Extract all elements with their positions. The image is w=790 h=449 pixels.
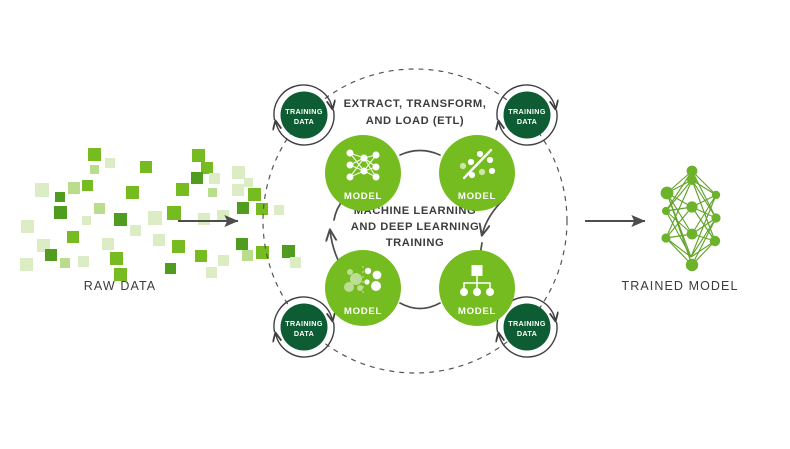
raw-data-square [78,256,89,267]
raw-data-square [82,216,91,225]
connector-top [400,151,440,156]
diagram-canvas: EXTRACT, TRANSFORM, AND LOAD (ETL) MACHI… [0,0,790,444]
model-label: MODEL [458,306,496,317]
connector-bottom [400,303,440,309]
training-data-node-top-left[interactable]: TRAININGDATA [274,85,334,145]
raw-data-square [35,183,49,197]
raw-data-scatter [20,148,301,281]
connector-left-up [330,230,339,262]
raw-data-square [54,206,67,219]
raw-data-square [290,257,301,268]
raw-data-square [130,225,141,236]
raw-data-square [167,206,181,220]
training-data-label-line-2: DATA [517,329,537,338]
raw-data-square [60,258,70,268]
raw-data-square [110,252,123,265]
workflow-diagram-svg: EXTRACT, TRANSFORM, AND LOAD (ETL) MACHI… [0,0,790,444]
raw-data-square [218,255,229,266]
raw-data-square [242,250,253,261]
raw-data-square [126,186,139,199]
raw-data-square [55,192,65,202]
raw-data-square [88,148,101,161]
training-data-label-line-2: DATA [517,117,537,126]
trained-model-caption: TRAINED MODEL [570,279,790,293]
raw-data-square [248,188,261,201]
ml-training-label: MACHINE LEARNING AND DEEP LEARNING TRAIN… [351,205,480,249]
raw-data-square [274,205,284,215]
training-data-label-line-1: TRAINING [285,107,323,116]
raw-data-square [140,161,152,173]
raw-data-square [148,211,162,225]
model-node-model-neural-net[interactable]: MODEL [325,135,401,211]
training-label-line-3: TRAINING [386,237,444,249]
training-data-label-line-2: DATA [294,117,314,126]
raw-data-square [198,213,210,225]
model-node-model-decision-tree[interactable]: MODEL [439,250,515,326]
raw-data-square [244,178,253,187]
raw-data-square [209,173,220,184]
raw-data-square [256,203,268,215]
training-data-label-line-1: TRAINING [508,319,546,328]
raw-data-square [237,202,249,214]
training-data-node-top-right[interactable]: TRAININGDATA [497,85,557,145]
etl-label: EXTRACT, TRANSFORM, AND LOAD (ETL) [344,98,487,127]
training-label-line-2: AND DEEP LEARNING [351,221,480,233]
etl-label-line-2: AND LOAD (ETL) [366,115,464,127]
model-label: MODEL [344,306,382,317]
model-node-model-classifier[interactable]: MODEL [439,135,515,211]
raw-data-square [21,220,34,233]
training-data-label-line-1: TRAINING [285,319,323,328]
raw-data-square [68,182,80,194]
raw-data-square [153,234,165,246]
raw-data-square [45,249,57,261]
raw-data-square [232,166,245,179]
raw-data-square [282,245,295,258]
raw-data-square [94,203,105,214]
raw-data-square [236,238,248,250]
trained-model-network-icon [661,166,721,272]
raw-data-square [102,238,114,250]
raw-data-square [206,267,217,278]
training-data-node-bottom-left[interactable]: TRAININGDATA [274,297,334,357]
model-label: MODEL [344,191,382,202]
raw-data-square [105,158,115,168]
raw-data-square [90,165,99,174]
raw-data-square [114,213,127,226]
raw-data-square [82,180,93,191]
model-node-model-clustering[interactable]: MODEL [325,250,401,326]
training-data-label-line-2: DATA [294,329,314,338]
training-data-label-line-1: TRAINING [508,107,546,116]
raw-data-square [192,149,205,162]
raw-data-square [195,250,207,262]
raw-data-square [191,172,203,184]
raw-data-square [20,258,33,271]
model-label: MODEL [458,191,496,202]
raw-data-square [165,263,176,274]
etl-label-line-1: EXTRACT, TRANSFORM, [344,98,487,110]
raw-data-square [232,184,244,196]
raw-data-square [176,183,189,196]
raw-data-square [67,231,79,243]
raw-data-square [208,188,217,197]
raw-data-caption: RAW DATA [0,279,240,293]
raw-data-square [172,240,185,253]
